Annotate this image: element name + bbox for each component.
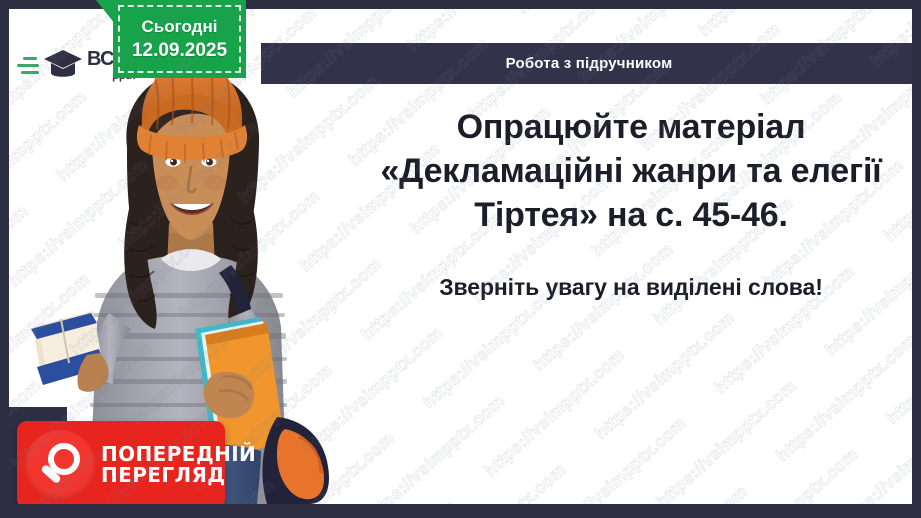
preview-badge-line2: ПЕРЕГЛЯД [101, 465, 256, 486]
watermark-text: https://vsimpptx.com [695, 9, 843, 41]
slide: ВСІМ pptx Робота з підручником Опрацюйте… [0, 0, 921, 518]
date-badge-label: Сьогодні [142, 17, 218, 37]
main-instruction-text: Опрацюйте матеріал «Декламаційні жанри т… [345, 105, 912, 238]
watermark-text: https://vsimpptx.com [361, 391, 509, 504]
date-badge: Сьогодні 12.09.2025 [113, 0, 246, 78]
watermark-text: https://vsimpptx.com [514, 9, 662, 18]
watermark-text: https://vsimpptx.com [834, 398, 912, 504]
watermark-text: https://vsimpptx.com [883, 293, 912, 429]
speed-lines-icon [15, 57, 39, 74]
watermark-text: https://vsimpptx.com [604, 482, 752, 504]
slide-canvas: ВСІМ pptx Робота з підручником Опрацюйте… [9, 9, 912, 504]
watermark-text: https://vsimpptx.com [773, 330, 912, 466]
preview-badge-line1: ПОПЕРЕДНІЙ [101, 444, 256, 465]
watermark-row: https://vsimpptx.comhttps://vsimpptx.com… [393, 289, 912, 504]
watermark-row: https://vsimpptx.comhttps://vsimpptx.com… [513, 324, 912, 504]
watermark-text: https://vsimpptx.com [481, 345, 629, 481]
preview-badge[interactable]: ПОПЕРЕДНІЙ ПЕРЕГЛЯД [17, 421, 225, 504]
secondary-instruction-text: Зверніть увагу на виділені слова! [345, 274, 912, 301]
section-title: Робота з підручником [506, 55, 673, 72]
watermark-text: https://vsimpptx.com [422, 460, 570, 504]
date-badge-date: 12.09.2025 [132, 40, 227, 62]
magnifier-icon [25, 430, 95, 500]
watermark-text: https://vsimpptx.com [714, 444, 862, 504]
watermark-text: https://vsimpptx.com [896, 467, 912, 504]
section-title-bar: Робота з підручником [261, 43, 912, 84]
watermark-text: https://vsimpptx.com [542, 413, 690, 504]
graduation-cap-icon [43, 47, 83, 83]
watermark-text: https://vsimpptx.com [591, 308, 739, 444]
watermark-text: https://vsimpptx.com [653, 376, 801, 504]
content-block: Опрацюйте матеріал «Декламаційні жанри т… [345, 105, 912, 301]
